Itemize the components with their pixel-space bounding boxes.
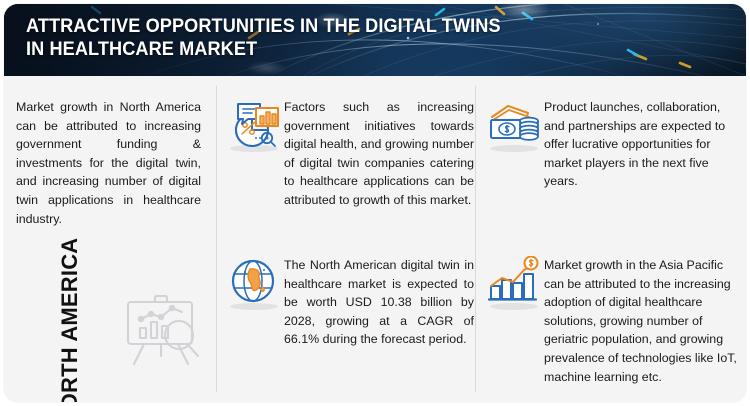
infographic-root: ATTRACTIVE OPPORTUNITIES IN THE DIGITAL … — [0, 0, 750, 406]
north-america-description: Market growth in North America can be at… — [16, 98, 201, 228]
column-divider-2 — [475, 86, 476, 392]
region-label-wrapper: NORTH AMERICA — [16, 278, 124, 386]
growth-bar-chart-dollar-icon — [486, 256, 542, 308]
fact-text: Market growth in the Asia Pacific can be… — [544, 256, 738, 386]
presentation-chart-magnifier-icon — [120, 290, 206, 370]
content-area: Market growth in North America can be at… — [4, 76, 746, 402]
region-label-text: NORTH AMERICA — [58, 238, 82, 402]
money-cash-coins-icon — [486, 98, 542, 150]
globe-icon — [226, 256, 282, 308]
fact-text: Product launches, collaboration, and par… — [544, 98, 736, 191]
page-title: ATTRACTIVE OPPORTUNITIES IN THE DIGITAL … — [26, 15, 510, 61]
fact-text: The North American digital twin in healt… — [284, 256, 474, 349]
header-banner: ATTRACTIVE OPPORTUNITIES IN THE DIGITAL … — [4, 4, 746, 76]
infographic-panel: ATTRACTIVE OPPORTUNITIES IN THE DIGITAL … — [4, 4, 746, 402]
market-research-percent-icon — [226, 98, 282, 150]
fact-text: Factors such as increasing government in… — [284, 98, 474, 210]
region-block: NORTH AMERICA — [12, 272, 212, 392]
column-divider-1 — [216, 86, 217, 392]
